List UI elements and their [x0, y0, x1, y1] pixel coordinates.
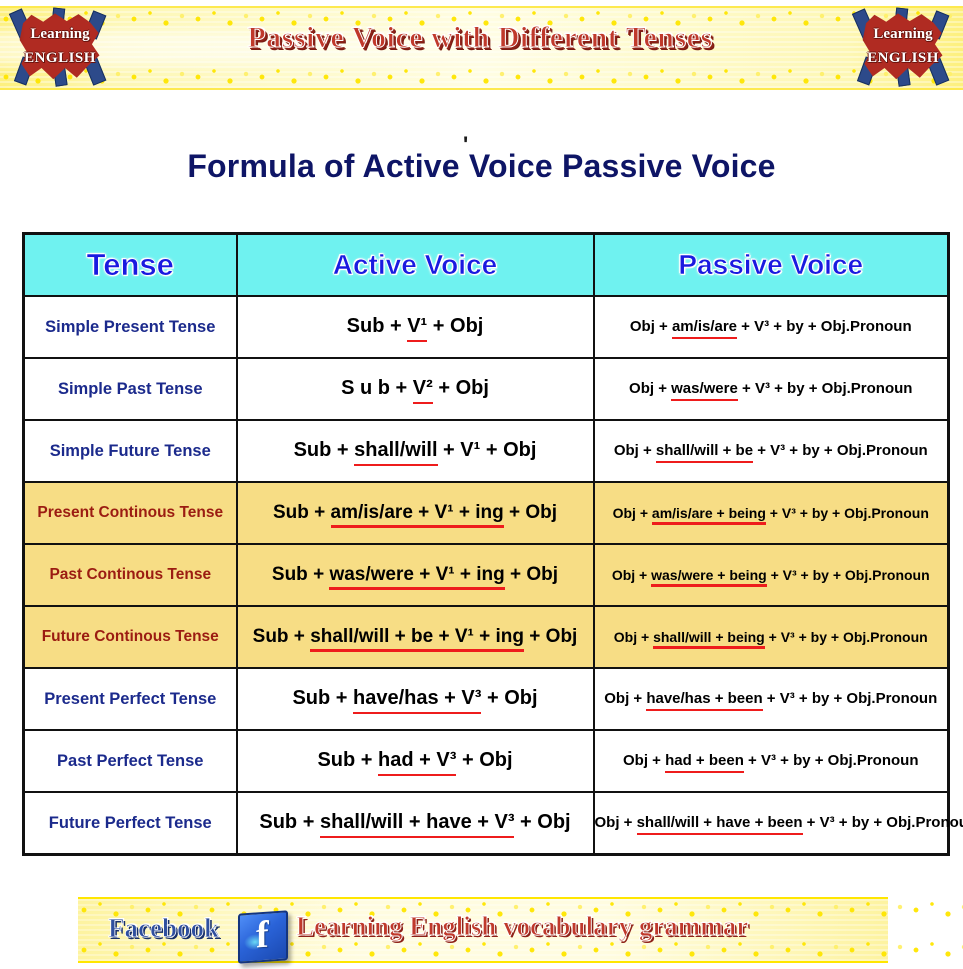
tense-cell: Present Continous Tense — [24, 482, 237, 544]
formula-underlined-part: shall/will + being — [653, 629, 765, 646]
footer-banner: Facebook Learning English vocabulary gra… — [0, 893, 963, 965]
formula-suffix: + V³ + by + Obj.Pronoun — [763, 690, 938, 707]
formula-underlined-part: had + V³ — [378, 749, 456, 773]
logo-left-line1: Learning — [12, 26, 108, 43]
formula-underlined-part: am/is/are + V¹ + ing — [331, 502, 504, 525]
active-voice-cell: Sub + was/were + V¹ + ing + Obj — [237, 544, 594, 606]
formula-prefix: Obj + — [612, 567, 651, 583]
facebook-icon[interactable]: f — [232, 908, 290, 964]
formula-prefix: Obj + — [614, 629, 653, 645]
passive-voice-cell: Obj + shall/will + being + V³ + by + Obj… — [594, 606, 949, 668]
table-row: Future Perfect TenseSub + shall/will + h… — [24, 792, 949, 855]
formula-suffix: + Obj — [427, 315, 483, 337]
column-header-tense: Tense — [24, 234, 237, 297]
formula-suffix: + Obj — [433, 377, 489, 399]
banner-squiggle-bottom-icon — [0, 66, 963, 88]
logo-left-line2: ENGLISH — [12, 50, 108, 67]
passive-voice-cell: Obj + am/is/are + V³ + by + Obj.Pronoun — [594, 296, 949, 358]
voice-formula-table-wrapper: Tense Active Voice Passive Voice Simple … — [22, 232, 947, 856]
active-voice-cell: Sub + shall/will + have + V³ + Obj — [237, 792, 594, 855]
logo-badge-right: Learning ENGLISH — [855, 8, 951, 86]
table-body: Simple Present TenseSub + V¹ + ObjObj + … — [24, 296, 949, 855]
formula-underlined-part: had + been — [665, 752, 744, 770]
tense-cell: Past Perfect Tense — [24, 730, 237, 792]
tense-cell: Simple Future Tense — [24, 420, 237, 482]
formula-prefix: Sub + — [273, 502, 331, 523]
passive-voice-cell: Obj + shall/will + be + V³ + by + Obj.Pr… — [594, 420, 949, 482]
formula-underlined-part: V² — [413, 377, 433, 401]
formula-underlined-part: shall/will + have + been — [637, 814, 803, 832]
formula-suffix: + V³ + by + Obj.Pronoun — [737, 318, 912, 335]
passive-voice-cell: Obj + shall/will + have + been + V³ + by… — [594, 792, 949, 855]
column-header-passive-voice: Passive Voice — [594, 234, 949, 297]
formula-prefix: Obj + — [630, 318, 672, 335]
header-banner: Learning ENGLISH Passive Voice with Diff… — [0, 0, 963, 92]
tense-cell: Future Continous Tense — [24, 606, 237, 668]
passive-voice-cell: Obj + was/were + V³ + by + Obj.Pronoun — [594, 358, 949, 420]
formula-prefix: Obj + — [614, 442, 656, 459]
active-voice-cell: Sub + V¹ + Obj — [237, 296, 594, 358]
formula-suffix: + V³ + by + Obj.Pronoun — [765, 629, 928, 645]
formula-prefix: Obj + — [613, 505, 652, 521]
formula-prefix: Obj + — [623, 752, 665, 769]
formula-suffix: + Obj — [481, 687, 537, 709]
formula-underlined-part: have/has + V³ — [353, 687, 481, 711]
formula-prefix: Obj + — [595, 814, 637, 831]
table-row: Future Continous TenseSub + shall/will +… — [24, 606, 949, 668]
facebook-label: Facebook — [108, 913, 219, 944]
passive-voice-cell: Obj + was/were + being + V³ + by + Obj.P… — [594, 544, 949, 606]
tense-cell: Future Perfect Tense — [24, 792, 237, 855]
table-row: Simple Future TenseSub + shall/will + V¹… — [24, 420, 949, 482]
tense-cell: Present Perfect Tense — [24, 668, 237, 730]
formula-underlined-part: was/were — [671, 380, 738, 398]
formula-prefix: Sub + — [347, 315, 408, 337]
active-voice-cell: Sub + shall/will + V¹ + Obj — [237, 420, 594, 482]
formula-suffix: + V³ + by + Obj.Pronoun — [766, 505, 929, 521]
formula-underlined-part: was/were + being — [651, 567, 767, 584]
active-voice-cell: Sub + have/has + V³ + Obj — [237, 668, 594, 730]
stray-apostrophe-mark: ' — [463, 132, 468, 158]
formula-underlined-part: was/were + V¹ + ing — [329, 564, 504, 587]
formula-underlined-part: shall/will + have + V³ — [320, 811, 515, 835]
formula-underlined-part: V¹ — [407, 315, 427, 339]
formula-suffix: + Obj — [514, 811, 570, 833]
tense-cell: Simple Present Tense — [24, 296, 237, 358]
formula-suffix: + V³ + by + Obj.Pronoun — [803, 814, 963, 831]
formula-prefix: Obj + — [629, 380, 671, 397]
logo-right-line1: Learning — [855, 26, 951, 43]
formula-prefix: Sub + — [292, 687, 353, 709]
logo-badge-left: Learning ENGLISH — [12, 8, 108, 86]
formula-underlined-part: shall/will + be + V¹ + ing — [310, 626, 524, 649]
formula-suffix: + V³ + by + Obj.Pronoun — [738, 380, 913, 397]
table-row: Present Perfect TenseSub + have/has + V³… — [24, 668, 949, 730]
formula-suffix: + Obj — [456, 749, 512, 771]
formula-prefix: Sub + — [272, 564, 330, 585]
voice-formula-table: Tense Active Voice Passive Voice Simple … — [22, 232, 950, 856]
formula-underlined-part: shall/will — [354, 439, 437, 463]
table-row: Past Perfect TenseSub + had + V³ + ObjOb… — [24, 730, 949, 792]
facebook-page-name: Learning English vocabulary grammar — [296, 911, 748, 942]
formula-prefix: Obj + — [604, 690, 646, 707]
active-voice-cell: Sub + had + V³ + Obj — [237, 730, 594, 792]
formula-subtitle: ' Formula of Active Voice Passive Voice — [0, 148, 963, 185]
formula-underlined-part: have/has + been — [646, 690, 762, 708]
formula-underlined-part: am/is/are — [672, 318, 737, 336]
formula-suffix: + Obj — [505, 564, 558, 585]
table-row: Simple Past TenseS u b + V² + ObjObj + w… — [24, 358, 949, 420]
passive-voice-cell: Obj + have/has + been + V³ + by + Obj.Pr… — [594, 668, 949, 730]
formula-suffix: + V¹ + Obj — [438, 439, 537, 461]
formula-prefix: S u b + — [341, 377, 413, 399]
page-title: Passive Voice with Different Tenses — [160, 21, 800, 55]
formula-prefix: Sub + — [294, 439, 355, 461]
passive-voice-cell: Obj + am/is/are + being + V³ + by + Obj.… — [594, 482, 949, 544]
formula-prefix: Sub + — [253, 626, 311, 647]
table-row: Past Continous TenseSub + was/were + V¹ … — [24, 544, 949, 606]
column-header-active-voice: Active Voice — [237, 234, 594, 297]
formula-suffix: + Obj — [524, 626, 577, 647]
formula-underlined-part: am/is/are + being — [652, 505, 766, 522]
tense-cell: Past Continous Tense — [24, 544, 237, 606]
active-voice-cell: S u b + V² + Obj — [237, 358, 594, 420]
table-row: Simple Present TenseSub + V¹ + ObjObj + … — [24, 296, 949, 358]
formula-prefix: Sub + — [317, 749, 378, 771]
formula-suffix: + V³ + by + Obj.Pronoun — [744, 752, 919, 769]
formula-underlined-part: shall/will + be — [656, 442, 753, 460]
formula-prefix: Sub + — [259, 811, 320, 833]
active-voice-cell: Sub + shall/will + be + V¹ + ing + Obj — [237, 606, 594, 668]
formula-subtitle-text: Formula of Active Voice Passive Voice — [187, 148, 775, 184]
logo-right-line2: ENGLISH — [855, 50, 951, 67]
formula-suffix: + V³ + by + Obj.Pronoun — [767, 567, 930, 583]
table-row: Present Continous TenseSub + am/is/are +… — [24, 482, 949, 544]
tense-cell: Simple Past Tense — [24, 358, 237, 420]
formula-suffix: + Obj — [504, 502, 557, 523]
passive-voice-cell: Obj + had + been + V³ + by + Obj.Pronoun — [594, 730, 949, 792]
active-voice-cell: Sub + am/is/are + V¹ + ing + Obj — [237, 482, 594, 544]
table-header-row: Tense Active Voice Passive Voice — [24, 234, 949, 297]
formula-suffix: + V³ + by + Obj.Pronoun — [753, 442, 928, 459]
